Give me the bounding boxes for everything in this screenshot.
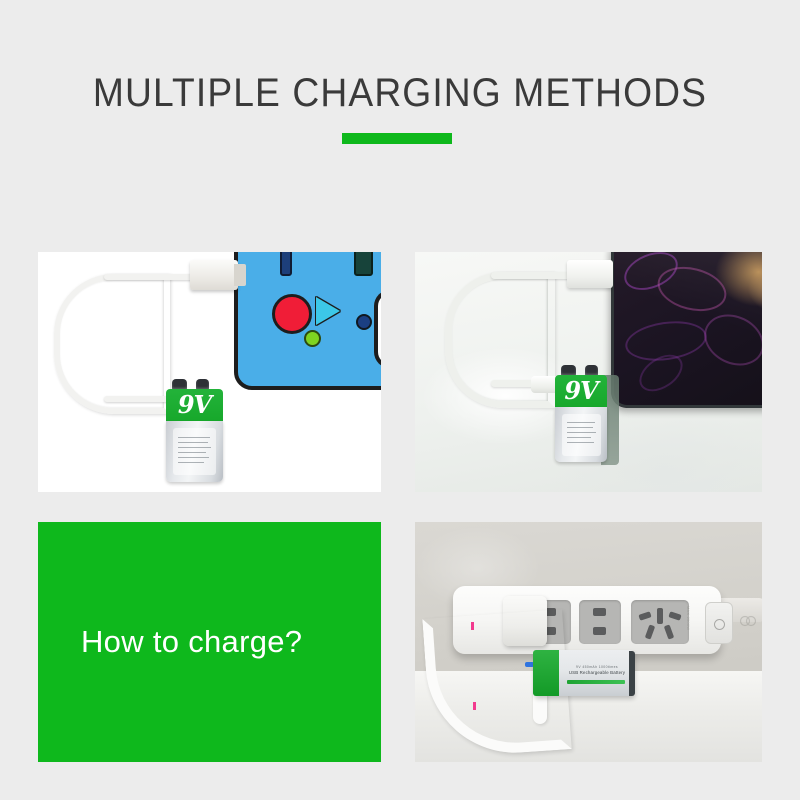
panel-charge-from-power-strip[interactable]: MAX 2500W 9V 450mAh 1000times USB Rechar… xyxy=(415,522,762,762)
tablet-device xyxy=(611,252,762,408)
tablet-bezel xyxy=(611,252,762,408)
panel-how-to-charge[interactable]: How to charge? xyxy=(38,522,381,762)
battery-label-area xyxy=(173,428,216,475)
power-switch-button[interactable] xyxy=(705,602,733,644)
battery-voltage-label: 9V xyxy=(166,389,223,421)
console-slot-green-icon xyxy=(354,252,373,276)
socket-universal-2 xyxy=(579,600,621,644)
console-red-button-icon xyxy=(272,294,312,334)
how-to-charge-heading: How to charge? xyxy=(81,522,302,762)
battery-9v-photo-flat: 9V 450mAh 1000times USB Rechargeable Bat… xyxy=(533,650,633,696)
console-notch xyxy=(374,290,381,368)
battery-voltage-label: 9V xyxy=(555,375,607,407)
battery-body xyxy=(166,421,223,482)
panel-charge-from-console[interactable]: 9V xyxy=(38,252,381,492)
usb-cable-upper-run xyxy=(104,274,200,280)
console-play-triangle-icon xyxy=(316,297,340,325)
battery-green-band: 9V xyxy=(166,389,223,421)
battery-green-stripe xyxy=(567,680,625,684)
usb-cable-loop xyxy=(54,274,170,414)
battery-green-band: 9V xyxy=(555,375,607,407)
power-strip-rating-print: MAX 2500W xyxy=(657,606,691,618)
panel-charge-from-tablet[interactable]: 9V xyxy=(415,252,762,492)
battery-side-edge xyxy=(629,651,635,696)
battery-green-band xyxy=(533,650,559,696)
brand-logo-icon xyxy=(739,614,757,628)
panel-grid: 9V xyxy=(38,252,762,762)
usb-a-connector-icon xyxy=(190,260,238,290)
cable-marker xyxy=(473,702,476,710)
title-underline xyxy=(342,133,452,144)
handheld-console-illustration xyxy=(234,252,381,390)
cable-marker xyxy=(471,622,474,630)
battery-9v-photo: 9V xyxy=(555,365,607,462)
socket-hole xyxy=(593,608,606,616)
console-slot-navy-icon xyxy=(280,252,292,276)
battery-label-area xyxy=(562,414,601,456)
usb-cable-upper-run xyxy=(491,272,577,279)
socket-hole xyxy=(593,627,606,635)
page-title: MULTIPLE CHARGING METHODS xyxy=(28,70,772,116)
usb-a-connector-icon xyxy=(567,260,613,288)
battery-spec-text: 9V 450mAh 1000times USB Rechargeable Bat… xyxy=(567,664,627,676)
console-green-dot-icon xyxy=(304,330,321,347)
socket-hole xyxy=(645,624,655,639)
power-indicator-icon xyxy=(714,619,725,630)
socket-hole xyxy=(638,611,651,620)
socket-hole xyxy=(664,624,674,639)
battery-product-name: USB Rechargeable Battery xyxy=(567,670,627,676)
battery-9v-illustration: 9V xyxy=(166,379,223,482)
console-navy-dot-icon xyxy=(356,314,372,330)
usb-a-tip xyxy=(234,264,246,286)
header: MULTIPLE CHARGING METHODS xyxy=(0,0,800,230)
battery-body xyxy=(555,407,607,462)
